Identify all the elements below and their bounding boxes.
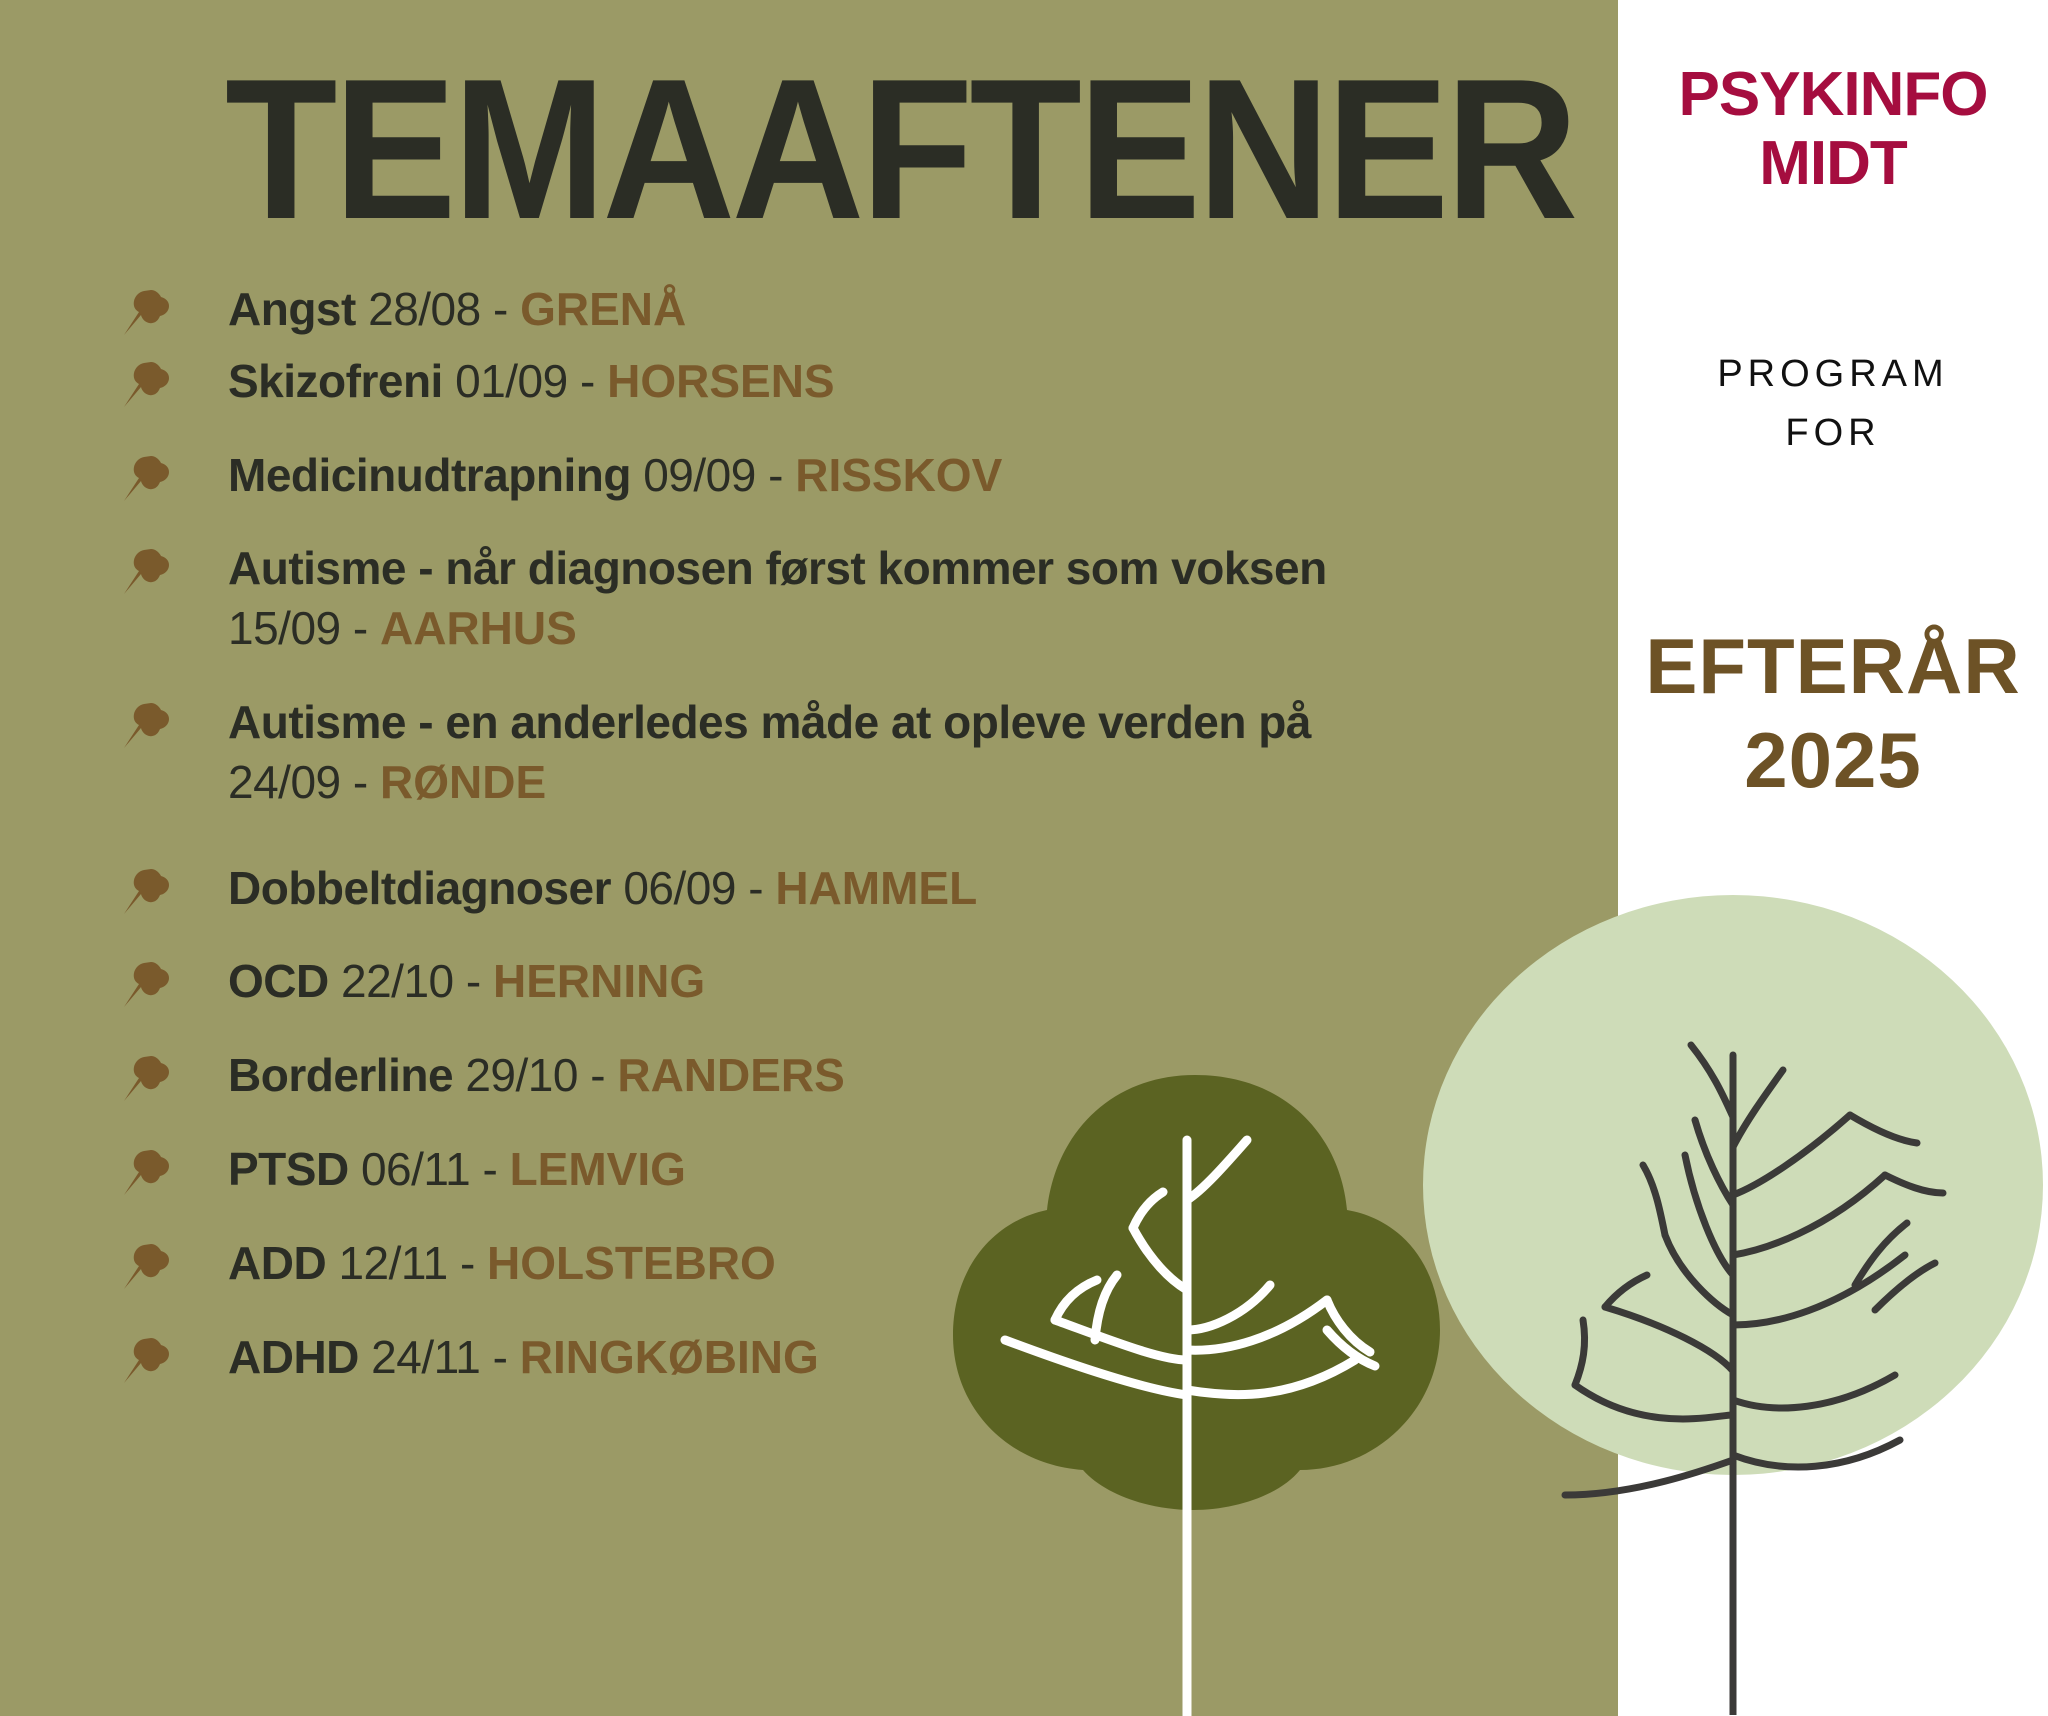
event-topic: Dobbeltdiagnoser [228,862,611,914]
event-topic: Medicinudtrapning [228,449,631,501]
list-item[interactable]: Autisme - når diagnosen først kommer som… [120,539,1540,659]
event-city: RØNDE [380,756,546,808]
pin-cell [120,352,228,410]
poster-root: TEMAAFTENER Angst 28/08 - GRENÅ Skizofre… [0,0,2048,1716]
list-item[interactable]: Autisme - en anderledes måde at opleve v… [120,693,1540,813]
pin-cell [120,280,228,338]
program-label: PROGRAM [1618,345,2048,404]
event-date: 24/11 [371,1331,480,1383]
event-separator: - [590,1049,605,1101]
event-separator: - [748,862,763,914]
event-city: RINGKØBING [520,1331,819,1383]
event-city: HAMMEL [775,862,977,914]
pushpin-icon [120,865,172,917]
event-date: 24/09 [228,756,341,808]
event-topic: ADD [228,1237,326,1289]
event-topic: OCD [228,955,329,1007]
pushpin-icon [120,1052,172,1104]
pushpin-icon [120,1334,172,1386]
event-date: 15/09 [228,602,341,654]
pin-cell [120,446,228,504]
pin-cell [120,1140,228,1198]
event-date: 12/11 [338,1237,447,1289]
list-item[interactable]: OCD 22/10 - HERNING [120,952,1540,1012]
event-text: Angst 28/08 - GRENÅ [228,280,1540,340]
list-item[interactable]: Medicinudtrapning 09/09 - RISSKOV [120,446,1540,506]
brand-logo: PSYKINFO MIDT [1618,60,2048,199]
pushpin-icon [120,1240,172,1292]
event-separator: - [466,955,481,1007]
pin-cell [120,952,228,1010]
brand-line-2: MIDT [1618,129,2048,198]
pushpin-icon [120,699,172,751]
event-separator: - [353,756,368,808]
list-item[interactable]: ADHD 24/11 - RINGKØBING [120,1328,1540,1388]
event-separator: - [493,283,508,335]
pin-cell [120,1328,228,1386]
event-text: Borderline 29/10 - RANDERS [228,1046,1540,1106]
event-city: RISSKOV [795,449,1002,501]
pushpin-icon [120,545,172,597]
event-date: 06/11 [361,1143,470,1195]
pushpin-icon [120,452,172,504]
event-city: HORSENS [607,355,834,407]
event-topic: ADHD [228,1331,359,1383]
event-city: LEMVIG [510,1143,686,1195]
page-title: TEMAAFTENER [225,50,1421,250]
event-city: HERNING [493,955,705,1007]
program-for-label: PROGRAM FOR [1618,345,2048,463]
event-list: Angst 28/08 - GRENÅ Skizofreni 01/09 - H… [120,280,1540,1399]
right-white-column [1618,0,2048,1716]
list-item[interactable]: Angst 28/08 - GRENÅ [120,280,1540,340]
event-text: PTSD 06/11 - LEMVIG [228,1140,1540,1200]
event-date: 06/09 [623,862,736,914]
pin-cell [120,1234,228,1292]
event-date: 01/09 [455,355,568,407]
event-city: RANDERS [617,1049,844,1101]
event-topic: Borderline [228,1049,453,1101]
pin-cell [120,539,228,597]
event-topic: Autisme - en anderledes måde at opleve v… [228,696,1311,748]
event-separator: - [768,449,783,501]
event-text: Medicinudtrapning 09/09 - RISSKOV [228,446,1540,506]
pushpin-icon [120,958,172,1010]
event-text: Skizofreni 01/09 - HORSENS [228,352,1540,412]
event-date: 29/10 [465,1049,578,1101]
list-item[interactable]: Skizofreni 01/09 - HORSENS [120,352,1540,412]
list-item[interactable]: PTSD 06/11 - LEMVIG [120,1140,1540,1200]
event-separator: - [493,1331,508,1383]
season-year: 2025 [1618,714,2048,808]
event-city: HOLSTEBRO [487,1237,776,1289]
list-item[interactable]: Borderline 29/10 - RANDERS [120,1046,1540,1106]
event-city: AARHUS [380,602,577,654]
season-block: EFTERÅR 2025 [1618,620,2048,807]
event-text: ADHD 24/11 - RINGKØBING [228,1328,1540,1388]
event-city: GRENÅ [520,283,686,335]
event-text: Dobbeltdiagnoser 06/09 - HAMMEL [228,859,1540,919]
event-separator: - [460,1237,475,1289]
event-text: ADD 12/11 - HOLSTEBRO [228,1234,1540,1294]
event-topic: Autisme - når diagnosen først kommer som… [228,542,1327,594]
pin-cell [120,693,228,751]
list-item[interactable]: ADD 12/11 - HOLSTEBRO [120,1234,1540,1294]
pin-cell [120,859,228,917]
event-date: 22/10 [341,955,454,1007]
pushpin-icon [120,358,172,410]
pushpin-icon [120,1146,172,1198]
season-label: EFTERÅR [1618,620,2048,714]
for-label: FOR [1618,404,2048,463]
event-text: OCD 22/10 - HERNING [228,952,1540,1012]
event-date: 09/09 [643,449,756,501]
brand-line-1: PSYKINFO [1679,60,1988,129]
pin-cell [120,1046,228,1104]
event-topic: Skizofreni [228,355,443,407]
pushpin-icon [120,286,172,338]
event-date: 28/08 [368,283,481,335]
event-text: Autisme - en anderledes måde at opleve v… [228,693,1540,813]
event-separator: - [580,355,595,407]
event-separator: - [482,1143,497,1195]
event-text: Autisme - når diagnosen først kommer som… [228,539,1540,659]
event-topic: Angst [228,283,356,335]
event-topic: PTSD [228,1143,349,1195]
event-separator: - [353,602,368,654]
list-item[interactable]: Dobbeltdiagnoser 06/09 - HAMMEL [120,859,1540,919]
